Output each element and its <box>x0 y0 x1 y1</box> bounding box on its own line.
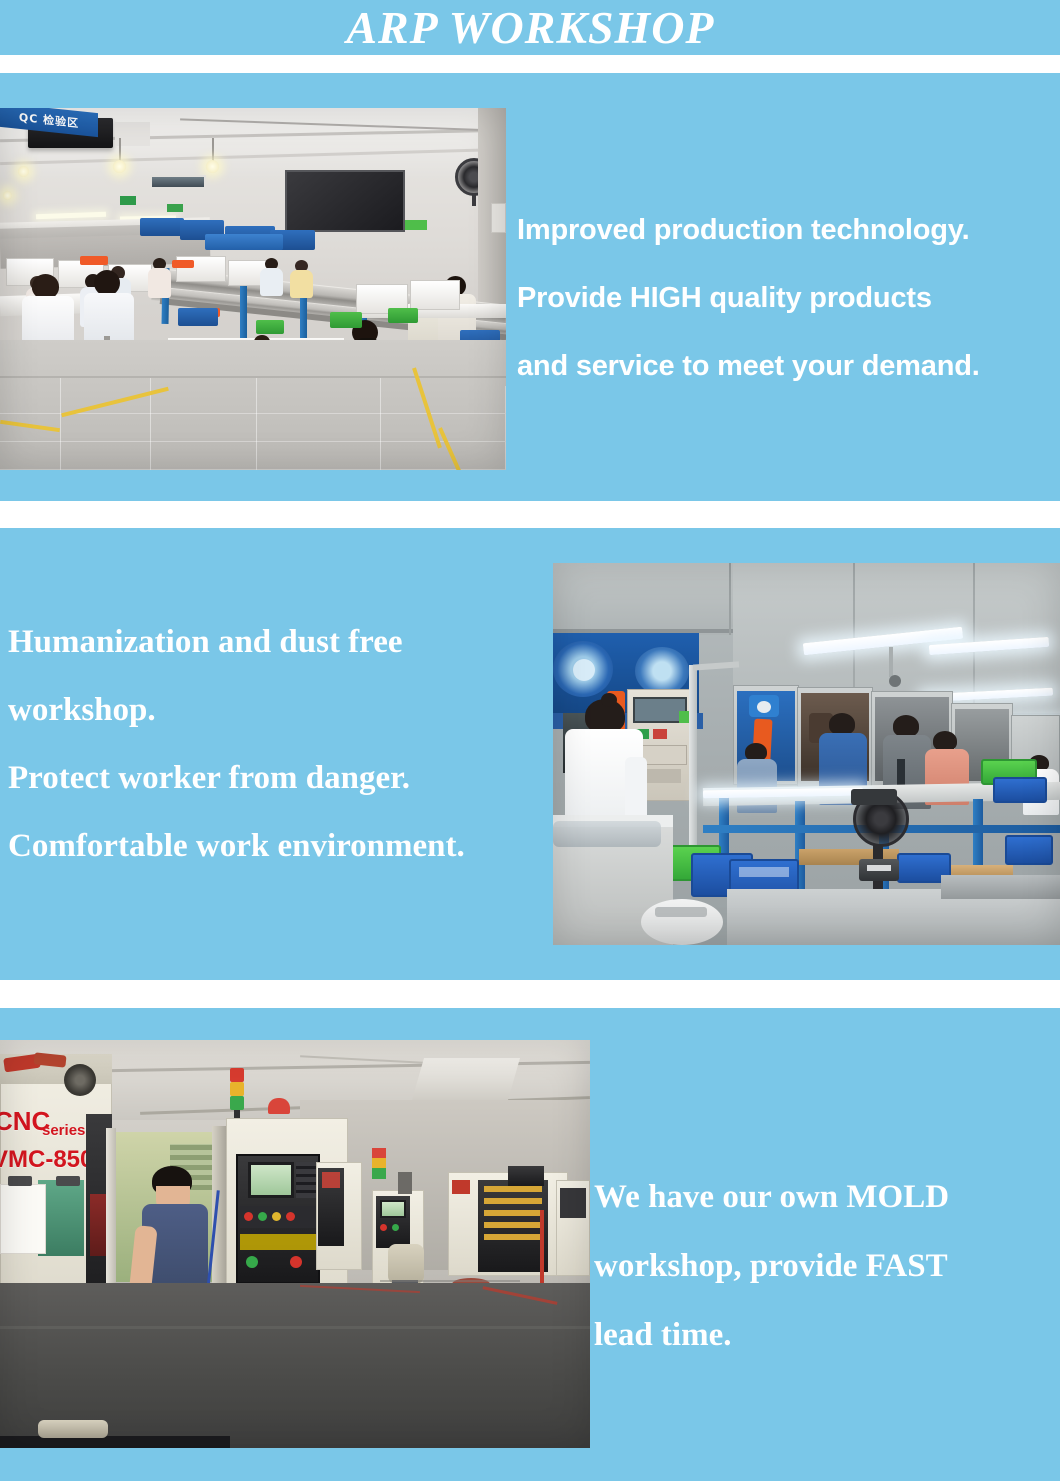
blue-crate <box>993 777 1047 803</box>
text-line: lead time. <box>594 1301 1054 1370</box>
assembly-line-photo: QC 检验区 <box>0 108 506 470</box>
page-title: ARP WORKSHOP <box>346 4 714 52</box>
divider-band-3 <box>0 980 1060 1008</box>
vmc-850-label: VMC-850 <box>0 1146 93 1174</box>
text-block-mold-workshop: We have our own MOLD workshop, provide F… <box>594 1163 1054 1370</box>
cnc-series-suffix: series <box>42 1122 85 1139</box>
page-header: ARP WORKSHOP <box>0 0 1060 55</box>
divider-band-1 <box>0 55 1060 73</box>
text-line: workshop. <box>8 676 556 744</box>
blue-crate <box>1005 835 1053 865</box>
text-line: Provide HIGH quality products <box>517 264 1060 332</box>
poster-page: ARP WORKSHOP <box>0 0 1060 1481</box>
text-block-production-technology: Improved production technology. Provide … <box>517 196 1060 400</box>
stack-light <box>230 1068 244 1082</box>
text-block-dust-free-workshop: Humanization and dust free workshop. Pro… <box>8 608 556 880</box>
divider-band-2 <box>0 501 1060 528</box>
text-line: and service to meet your demand. <box>517 332 1060 400</box>
cnc-mold-workshop-photo: CNC series VMC-850 <box>0 1040 590 1448</box>
text-line: Improved production technology. <box>517 196 1060 264</box>
text-line: Humanization and dust free <box>8 608 556 676</box>
text-line: Comfortable work environment. <box>8 812 556 880</box>
cnc-control-screen <box>248 1162 294 1198</box>
text-line: Protect worker from danger. <box>8 744 556 812</box>
wall-board <box>285 170 405 232</box>
text-line: workshop, provide FAST <box>594 1232 1054 1301</box>
text-line: We have our own MOLD <box>594 1163 1054 1232</box>
dust-free-workshop-photo <box>553 563 1060 945</box>
